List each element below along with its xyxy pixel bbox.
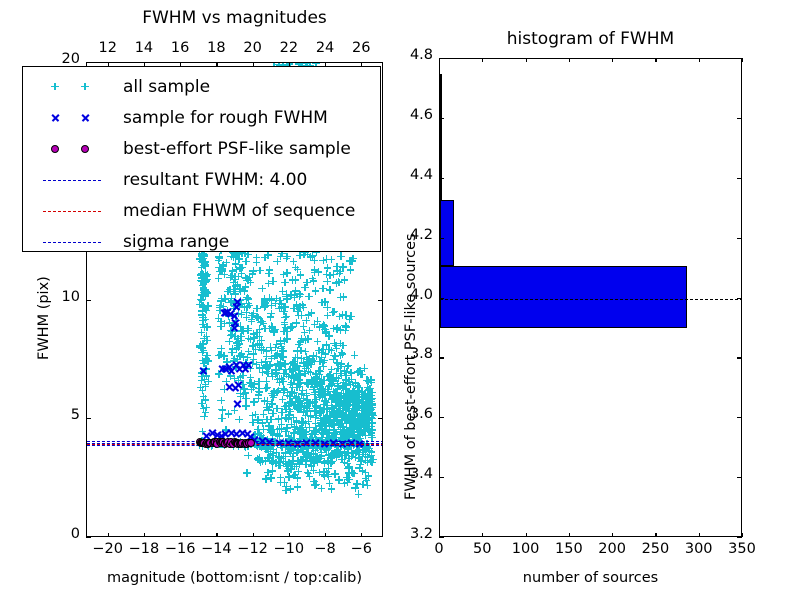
scatter-point-all-sample: [307, 399, 315, 407]
scatter-point-all-sample: [272, 326, 280, 334]
hist-y-tick-label: 4.8: [383, 47, 433, 63]
scatter-point-all-sample: [333, 418, 341, 426]
scatter-point-all-sample: [360, 423, 368, 431]
scatter-point-all-sample: [245, 295, 253, 303]
scatter-point-all-sample: [261, 297, 269, 305]
scatter-point-all-sample: [332, 396, 340, 404]
scatter-point-all-sample: [228, 331, 236, 339]
scatter-point-all-sample: [277, 479, 285, 487]
scatter-point-all-sample: [333, 416, 341, 424]
scatter-point-all-sample: [317, 407, 325, 415]
scatter-point-all-sample: [202, 365, 210, 373]
hist-y-tick-right: [737, 298, 742, 299]
scatter-point-all-sample: [234, 309, 242, 317]
scatter-point-all-sample: [358, 371, 366, 379]
scatter-point-all-sample: [337, 420, 345, 428]
scatter-point-all-sample: [281, 402, 289, 410]
scatter-point-rough-fwhm: [217, 432, 225, 440]
scatter-point-all-sample: [347, 266, 355, 274]
scatter-point-all-sample: [365, 398, 373, 406]
y-tick-label-left: 20: [34, 51, 80, 67]
scatter-point-all-sample: [272, 368, 280, 376]
scatter-point-all-sample: [242, 359, 250, 367]
scatter-point-all-sample: [346, 423, 354, 431]
scatter-point-all-sample: [334, 450, 342, 458]
scatter-point-all-sample: [319, 363, 327, 371]
scatter-point-all-sample: [286, 366, 294, 374]
scatter-point-all-sample: [258, 318, 266, 326]
left-panel-xlabel: magnitude (bottom:isnt / top:calib): [86, 570, 383, 586]
scatter-point-all-sample: [274, 360, 282, 368]
scatter-point-all-sample: [198, 369, 206, 377]
scatter-point-all-sample: [369, 411, 377, 419]
scatter-point-all-sample: [328, 420, 336, 428]
scatter-point-all-sample: [268, 435, 276, 443]
scatter-point-all-sample: [349, 450, 357, 458]
scatter-point-all-sample: [272, 300, 280, 308]
legend-label: sigma range: [123, 232, 229, 252]
scatter-point-all-sample: [236, 265, 244, 273]
scatter-point-all-sample: [359, 446, 367, 454]
scatter-point-all-sample: [341, 403, 349, 411]
scatter-point-all-sample: [311, 414, 319, 422]
scatter-point-all-sample: [343, 390, 351, 398]
scatter-point-all-sample: [330, 421, 338, 429]
scatter-point-all-sample: [200, 334, 208, 342]
scatter-point-all-sample: [323, 303, 331, 311]
scatter-point-all-sample: [312, 480, 320, 488]
scatter-point-all-sample: [311, 397, 319, 405]
scatter-point-all-sample: [327, 459, 335, 467]
scatter-point-all-sample: [320, 430, 328, 438]
scatter-point-all-sample: [249, 419, 257, 427]
hist-y-tick: [439, 118, 444, 119]
scatter-point-all-sample: [348, 423, 356, 431]
scatter-point-all-sample: [357, 428, 365, 436]
scatter-point-all-sample: [273, 258, 281, 266]
scatter-point-all-sample: [320, 401, 328, 409]
scatter-point-all-sample: [196, 342, 204, 350]
scatter-point-all-sample: [309, 377, 317, 385]
scatter-point-all-sample: [337, 268, 345, 276]
scatter-point-all-sample: [267, 343, 275, 351]
scatter-point-all-sample: [279, 347, 287, 355]
scatter-point-all-sample: [316, 324, 324, 332]
scatter-point-all-sample: [253, 305, 261, 313]
scatter-point-all-sample: [264, 369, 272, 377]
scatter-point-all-sample: [198, 291, 206, 299]
scatter-point-all-sample: [249, 270, 257, 278]
scatter-point-all-sample: [348, 375, 356, 383]
scatter-point-all-sample: [255, 456, 263, 464]
scatter-point-all-sample: [273, 295, 281, 303]
scatter-point-all-sample: [223, 358, 231, 366]
scatter-point-all-sample: [269, 409, 277, 417]
scatter-point-all-sample: [271, 390, 279, 398]
scatter-point-all-sample: [276, 425, 284, 433]
scatter-point-all-sample: [293, 449, 301, 457]
scatter-point-all-sample: [355, 428, 363, 436]
scatter-point-all-sample: [199, 313, 207, 321]
scatter-point-all-sample: [351, 388, 359, 396]
scatter-point-all-sample: [283, 335, 291, 343]
scatter-point-all-sample: [344, 394, 352, 402]
scatter-point-all-sample: [285, 459, 293, 467]
scatter-point-all-sample: [338, 412, 346, 420]
scatter-point-all-sample: [249, 343, 257, 351]
scatter-point-all-sample: [345, 407, 353, 415]
scatter-point-all-sample: [273, 352, 281, 360]
scatter-point-all-sample: [279, 287, 287, 295]
scatter-point-all-sample: [339, 383, 347, 391]
scatter-point-all-sample: [228, 328, 236, 336]
scatter-point-all-sample: [294, 380, 302, 388]
scatter-point-all-sample: [273, 405, 281, 413]
scatter-point-all-sample: [291, 373, 299, 381]
scatter-point-all-sample: [342, 368, 350, 376]
scatter-point-all-sample: [338, 455, 346, 463]
scatter-point-all-sample: [317, 404, 325, 412]
scatter-point-all-sample: [290, 361, 298, 369]
scatter-point-all-sample: [290, 429, 298, 437]
scatter-point-all-sample: [320, 299, 328, 307]
scatter-point-all-sample: [351, 427, 359, 435]
scatter-point-all-sample: [258, 285, 266, 293]
scatter-point-all-sample: [293, 404, 301, 412]
scatter-point-all-sample: [199, 340, 207, 348]
scatter-point-all-sample: [281, 319, 289, 327]
scatter-point-all-sample: [341, 414, 349, 422]
scatter-point-all-sample: [302, 420, 310, 428]
scatter-point-all-sample: [313, 412, 321, 420]
scatter-point-all-sample: [352, 449, 360, 457]
scatter-point-all-sample: [332, 449, 340, 457]
scatter-point-all-sample: [368, 423, 376, 431]
scatter-point-all-sample: [291, 293, 299, 301]
scatter-point-all-sample: [337, 423, 345, 431]
scatter-point-all-sample: [283, 461, 291, 469]
scatter-point-all-sample: [302, 317, 310, 325]
scatter-point-all-sample: [355, 423, 363, 431]
scatter-point-all-sample: [201, 260, 209, 268]
scatter-point-all-sample: [278, 303, 286, 311]
scatter-point-all-sample: [324, 457, 332, 465]
scatter-point-all-sample: [218, 267, 226, 275]
scatter-point-all-sample: [320, 414, 328, 422]
hist-y-tick-right: [737, 357, 742, 358]
scatter-point-all-sample: [305, 470, 313, 478]
scatter-point-all-sample: [253, 259, 261, 267]
legend-item[interactable]: sample for rough FWHM: [31, 102, 380, 133]
scatter-point-all-sample: [202, 381, 210, 389]
scatter-point-all-sample: [353, 410, 361, 418]
scatter-point-all-sample: [296, 371, 304, 379]
scatter-point-all-sample: [202, 288, 210, 296]
scatter-point-all-sample: [367, 407, 375, 415]
scatter-point-all-sample: [362, 457, 370, 465]
scatter-point-all-sample: [303, 361, 311, 369]
scatter-point-all-sample: [290, 456, 298, 464]
scatter-point-all-sample: [318, 323, 326, 331]
scatter-point-rough-fwhm: [240, 361, 248, 369]
scatter-point-all-sample: [319, 346, 327, 354]
hist-y-tick-right: [737, 118, 742, 119]
scatter-point-all-sample: [297, 347, 305, 355]
legend-item[interactable]: resultant FWHM: 4.00: [31, 164, 380, 195]
scatter-point-all-sample: [299, 386, 307, 394]
scatter-point-all-sample: [340, 458, 348, 466]
scatter-point-all-sample: [321, 326, 329, 334]
scatter-point-all-sample: [287, 323, 295, 331]
scatter-point-all-sample: [296, 383, 304, 391]
scatter-point-all-sample: [259, 457, 267, 465]
scatter-point-all-sample: [203, 337, 211, 345]
scatter-point-all-sample: [354, 411, 362, 419]
scatter-point-all-sample: [346, 390, 354, 398]
scatter-point-all-sample: [307, 430, 315, 438]
scatter-point-all-sample: [295, 399, 303, 407]
scatter-point-all-sample: [321, 298, 329, 306]
scatter-point-all-sample: [266, 294, 274, 302]
scatter-point-all-sample: [297, 457, 305, 465]
scatter-point-all-sample: [292, 463, 300, 471]
scatter-point-all-sample: [324, 470, 332, 478]
scatter-point-all-sample: [343, 431, 351, 439]
scatter-point-all-sample: [307, 450, 315, 458]
scatter-point-all-sample: [361, 364, 369, 372]
scatter-point-all-sample: [232, 260, 240, 268]
scatter-point-all-sample: [294, 446, 302, 454]
scatter-point-all-sample: [295, 376, 303, 384]
scatter-point-all-sample: [215, 370, 223, 378]
scatter-point-rough-fwhm: [225, 383, 233, 391]
scatter-point-all-sample: [231, 286, 239, 294]
scatter-point-all-sample: [274, 387, 282, 395]
hist-x-tick-top: [742, 58, 743, 62]
scatter-point-all-sample: [326, 412, 334, 420]
scatter-point-all-sample: [309, 386, 317, 394]
scatter-point-all-sample: [341, 403, 349, 411]
scatter-point-all-sample: [278, 408, 286, 416]
legend-item[interactable]: all sample: [31, 71, 380, 102]
scatter-point-all-sample: [329, 394, 337, 402]
scatter-point-all-sample: [202, 383, 210, 391]
scatter-point-all-sample: [234, 335, 242, 343]
scatter-point-all-sample: [198, 345, 206, 353]
scatter-point-all-sample: [254, 455, 262, 463]
scatter-point-all-sample: [277, 474, 285, 482]
scatter-point-all-sample: [363, 409, 371, 417]
scatter-point-all-sample: [300, 395, 308, 403]
scatter-point-all-sample: [359, 388, 367, 396]
scatter-point-all-sample: [291, 423, 299, 431]
scatter-point-all-sample: [284, 415, 292, 423]
scatter-point-all-sample: [311, 428, 319, 436]
scatter-point-all-sample: [246, 379, 254, 387]
scatter-point-all-sample: [249, 267, 257, 275]
scatter-point-all-sample: [312, 396, 320, 404]
scatter-point-all-sample: [202, 409, 210, 417]
scatter-point-all-sample: [316, 358, 324, 366]
scatter-point-all-sample: [329, 308, 337, 316]
scatter-point-all-sample: [308, 357, 316, 365]
scatter-point-all-sample: [285, 403, 293, 411]
scatter-point-all-sample: [303, 379, 311, 387]
scatter-point-all-sample: [292, 426, 300, 434]
scatter-point-all-sample: [312, 454, 320, 462]
scatter-point-all-sample: [288, 420, 296, 428]
scatter-point-all-sample: [325, 383, 333, 391]
scatter-point-all-sample: [310, 460, 318, 468]
scatter-point-all-sample: [366, 401, 374, 409]
scatter-point-all-sample: [286, 485, 294, 493]
scatter-point-all-sample: [196, 301, 204, 309]
scatter-point-all-sample: [336, 476, 344, 484]
scatter-point-all-sample: [266, 454, 274, 462]
scatter-point-all-sample: [338, 360, 346, 368]
y-tick-left: [86, 300, 91, 301]
scatter-point-all-sample: [198, 311, 206, 319]
scatter-point-all-sample: [277, 359, 285, 367]
scatter-point-all-sample: [341, 322, 349, 330]
scatter-point-all-sample: [315, 371, 323, 379]
scatter-point-all-sample: [310, 390, 318, 398]
scatter-point-all-sample: [359, 417, 367, 425]
scatter-point-all-sample: [361, 427, 369, 435]
scatter-point-all-sample: [364, 411, 372, 419]
scatter-point-all-sample: [313, 352, 321, 360]
scatter-point-all-sample: [342, 407, 350, 415]
scatter-point-all-sample: [342, 425, 350, 433]
scatter-point-all-sample: [256, 325, 264, 333]
scatter-point-all-sample: [234, 342, 242, 350]
scatter-point-all-sample: [268, 322, 276, 330]
scatter-point-all-sample: [347, 450, 355, 458]
scatter-point-all-sample: [334, 267, 342, 275]
scatter-point-all-sample: [347, 412, 355, 420]
scatter-point-all-sample: [321, 472, 329, 480]
hist-y-tick: [439, 178, 444, 179]
scatter-point-all-sample: [269, 373, 277, 381]
scatter-point-all-sample: [198, 258, 206, 266]
scatter-point-all-sample: [255, 388, 263, 396]
scatter-point-all-sample: [336, 279, 344, 287]
scatter-point-all-sample: [259, 419, 267, 427]
scatter-point-all-sample: [347, 418, 355, 426]
scatter-point-all-sample: [255, 378, 263, 386]
scatter-point-all-sample: [242, 360, 250, 368]
scatter-point-all-sample: [315, 388, 323, 396]
y-tick-label-left: 0: [34, 526, 80, 542]
scatter-point-all-sample: [334, 391, 342, 399]
scatter-point-all-sample: [234, 281, 242, 289]
scatter-point-all-sample: [366, 425, 374, 433]
scatter-point-all-sample: [323, 398, 331, 406]
scatter-point-all-sample: [335, 394, 343, 402]
scatter-point-all-sample: [298, 400, 306, 408]
scatter-point-all-sample: [360, 422, 368, 430]
scatter-point-all-sample: [280, 478, 288, 486]
scatter-point-all-sample: [299, 418, 307, 426]
scatter-point-all-sample: [264, 383, 272, 391]
scatter-point-all-sample: [279, 377, 287, 385]
scatter-point-all-sample: [295, 461, 303, 469]
scatter-point-all-sample: [315, 469, 323, 477]
scatter-point-all-sample: [319, 359, 327, 367]
legend-item[interactable]: sigma range: [31, 226, 380, 257]
scatter-point-all-sample: [332, 410, 340, 418]
scatter-point-all-sample: [342, 380, 350, 388]
scatter-point-all-sample: [339, 423, 347, 431]
scatter-point-all-sample: [290, 450, 298, 458]
scatter-point-all-sample: [217, 351, 225, 359]
scatter-point-all-sample: [359, 467, 367, 475]
scatter-point-all-sample: [231, 276, 239, 284]
legend-item[interactable]: best-effort PSF-like sample: [31, 133, 380, 164]
scatter-point-all-sample: [201, 278, 209, 286]
scatter-point-all-sample: [318, 299, 326, 307]
scatter-point-all-sample: [269, 430, 277, 438]
scatter-point-all-sample: [320, 390, 328, 398]
x-tick-bottom: [180, 533, 181, 537]
scatter-point-all-sample: [305, 399, 313, 407]
scatter-point-all-sample: [262, 384, 270, 392]
scatter-point-all-sample: [354, 368, 362, 376]
scatter-point-all-sample: [288, 372, 296, 380]
scatter-point-all-sample: [267, 302, 275, 310]
scatter-point-all-sample: [297, 272, 305, 280]
scatter-point-all-sample: [200, 360, 208, 368]
scatter-point-all-sample: [369, 409, 377, 417]
scatter-point-all-sample: [331, 421, 339, 429]
scatter-point-all-sample: [268, 297, 276, 305]
scatter-point-all-sample: [204, 357, 212, 365]
scatter-point-all-sample: [368, 406, 376, 414]
scatter-point-all-sample: [368, 398, 376, 406]
scatter-point-all-sample: [257, 359, 265, 367]
scatter-point-all-sample: [364, 453, 372, 461]
scatter-point-all-sample: [352, 418, 360, 426]
scatter-point-all-sample: [360, 447, 368, 455]
scatter-point-all-sample: [274, 430, 282, 438]
hist-x-tick-top: [655, 58, 656, 62]
scatter-point-all-sample: [354, 415, 362, 423]
scatter-point-all-sample: [328, 485, 336, 493]
hist-y-tick: [439, 238, 444, 239]
scatter-point-all-sample: [273, 431, 281, 439]
scatter-point-all-sample: [231, 321, 239, 329]
scatter-point-all-sample: [218, 406, 226, 414]
scatter-point-all-sample: [231, 375, 239, 383]
scatter-point-all-sample: [199, 343, 207, 351]
scatter-point-all-sample: [334, 420, 342, 428]
scatter-point-all-sample: [319, 323, 327, 331]
scatter-point-all-sample: [283, 370, 291, 378]
scatter-point-all-sample: [353, 418, 361, 426]
scatter-point-all-sample: [304, 450, 312, 458]
scatter-point-all-sample: [282, 406, 290, 414]
scatter-point-all-sample: [199, 282, 207, 290]
scatter-point-all-sample: [203, 357, 211, 365]
legend-item[interactable]: median FHWM of sequence: [31, 195, 380, 226]
scatter-point-all-sample: [280, 303, 288, 311]
scatter-point-all-sample: [287, 393, 295, 401]
scatter-point-all-sample: [281, 360, 289, 368]
scatter-point-all-sample: [322, 329, 330, 337]
scatter-point-all-sample: [230, 286, 238, 294]
scatter-point-all-sample: [273, 340, 281, 348]
scatter-point-all-sample: [353, 402, 361, 410]
